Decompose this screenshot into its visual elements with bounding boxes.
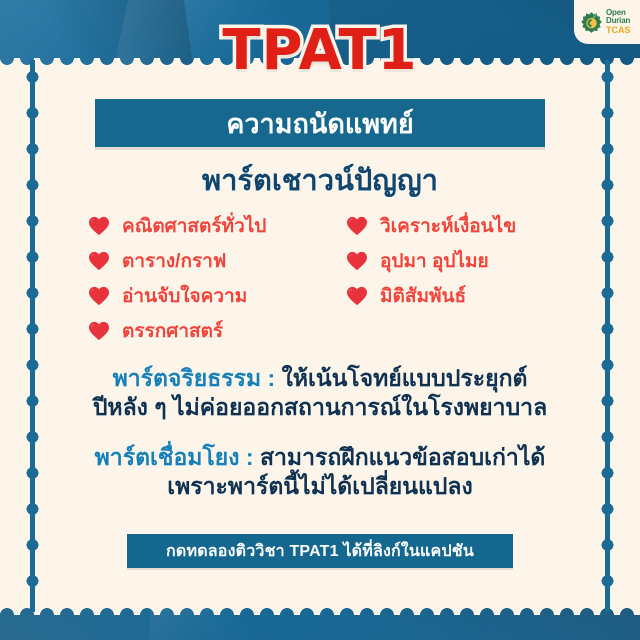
topic-column-left: คณิตศาสตร์ทั่วไป ตาราง/กราฟ อ่านจับใจควา… [88, 208, 340, 348]
heart-icon [88, 251, 110, 271]
page-title: TPAT1 [0, 18, 640, 83]
paragraph-line-1: ให้เน้นโจทย์แบบประยุกต์ [275, 365, 527, 391]
topic-column-right: วิเคราะห์เงื่อนไข อุปมา อุปไมย มิติสัมพั… [340, 208, 558, 348]
paragraph-line-2: ปีหลัง ๆ ไม่ค่อยออกสถานการณ์ในโรงพยาบาล [40, 393, 600, 422]
list-item: ตาราง/กราฟ [88, 243, 340, 278]
topic-label: มิติสัมพันธ์ [380, 281, 466, 311]
topic-label: ตรรกศาสตร์ [122, 316, 223, 346]
subject-banner-label: ความถนัดแพทย์ [226, 102, 413, 145]
paragraph-key: พาร์ตเชื่อมโยง : [95, 444, 254, 470]
heart-icon [88, 216, 110, 236]
list-item: อุปมา อุปไมย [340, 243, 558, 278]
list-item: ตรรกศาสตร์ [88, 313, 340, 348]
topic-label: อุปมา อุปไมย [380, 246, 489, 276]
topic-list: คณิตศาสตร์ทั่วไป ตาราง/กราฟ อ่านจับใจควา… [88, 208, 558, 348]
paragraph-line-1: สามารถฝึกแนวข้อสอบเก่าได้ [254, 444, 546, 470]
topic-label: วิเคราะห์เงื่อนไข [380, 211, 516, 241]
left-decorative-rail [30, 60, 35, 612]
poster-canvas: Open Durian TCAS TPAT1 ความถนัดแพทย์ พาร… [0, 0, 640, 640]
part-heading: พาร์ตเชาวน์ปัญญา [0, 157, 640, 203]
cta-banner[interactable]: กดทดลองติววิชา TPAT1 ได้ที่ลิงก์ในแคปชัน [127, 534, 513, 568]
heart-icon [88, 286, 110, 306]
list-item: มิติสัมพันธ์ [340, 278, 558, 313]
heart-icon [346, 216, 368, 236]
right-decorative-rail [605, 60, 610, 612]
paragraph-line-2: เพราะพาร์ตนี้ไม่ได้เปลี่ยนแปลง [40, 472, 600, 501]
connection-part-paragraph: พาร์ตเชื่อมโยง : สามารถฝึกแนวข้อสอบเก่าไ… [40, 443, 600, 502]
rail-bumps [26, 68, 39, 604]
topic-label: อ่านจับใจความ [122, 281, 247, 311]
heart-icon [346, 286, 368, 306]
list-item: วิเคราะห์เงื่อนไข [340, 208, 558, 243]
ethics-part-paragraph: พาร์ตจริยธรรม : ให้เน้นโจทย์แบบประยุกต์ … [40, 364, 600, 423]
list-item: คณิตศาสตร์ทั่วไป [88, 208, 340, 243]
paragraph-line: พาร์ตจริยธรรม : ให้เน้นโจทย์แบบประยุกต์ [40, 364, 600, 393]
paragraph-line: พาร์ตเชื่อมโยง : สามารถฝึกแนวข้อสอบเก่าไ… [40, 443, 600, 472]
topic-label: ตาราง/กราฟ [122, 246, 226, 276]
subject-banner: ความถนัดแพทย์ [95, 99, 545, 147]
rail-bumps [601, 68, 614, 604]
topic-label: คณิตศาสตร์ทั่วไป [122, 211, 266, 241]
cta-label: กดทดลองติววิชา TPAT1 ได้ที่ลิงก์ในแคปชัน [166, 539, 474, 564]
paragraph-key: พาร์ตจริยธรรม : [113, 365, 276, 391]
heart-icon [88, 321, 110, 341]
heart-icon [346, 251, 368, 271]
list-item: อ่านจับใจความ [88, 278, 340, 313]
